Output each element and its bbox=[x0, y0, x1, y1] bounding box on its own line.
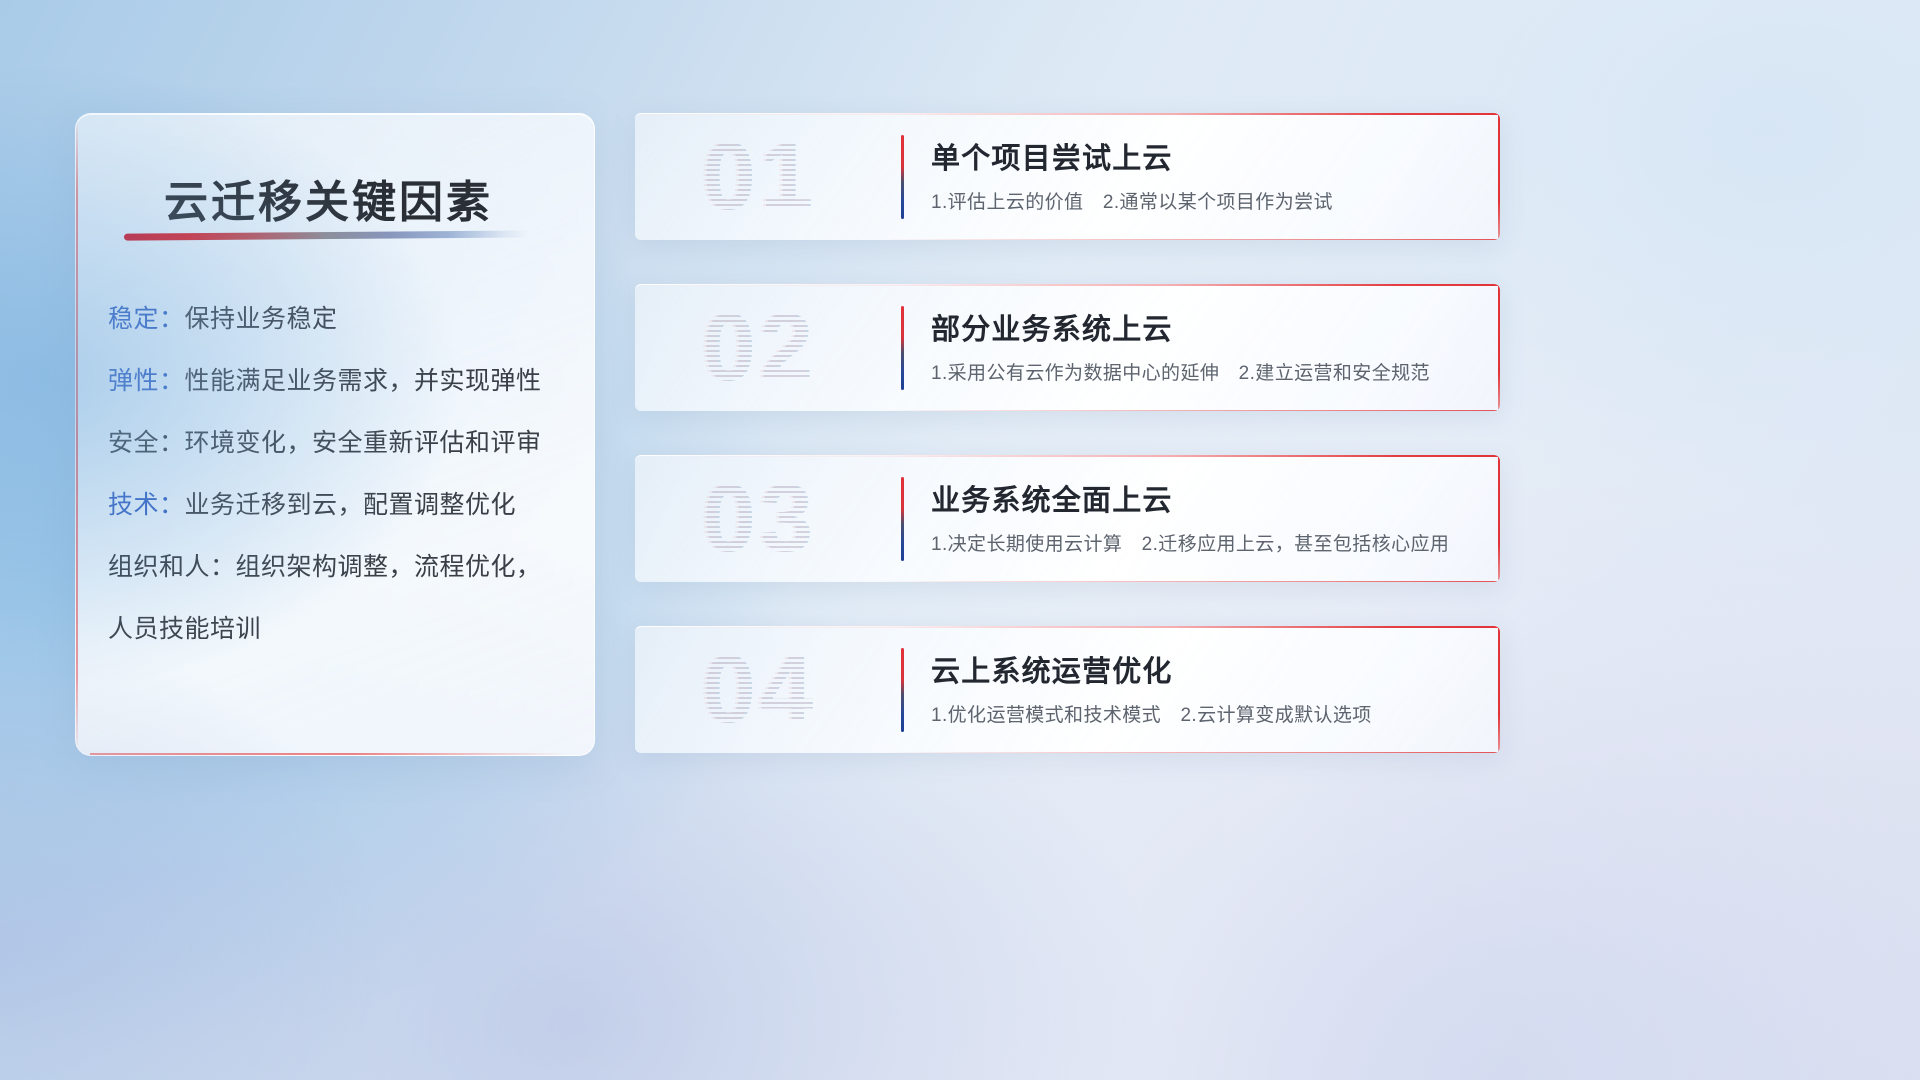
step-title: 部分业务系统上云 bbox=[931, 306, 1173, 348]
panel-title: 云迁移关键因素 bbox=[164, 166, 493, 230]
step-divider-line bbox=[901, 135, 904, 219]
panel-bottom-accent-bar bbox=[90, 753, 568, 755]
list-item-continuation: 人员技能培训 bbox=[108, 617, 572, 642]
step-divider-line bbox=[901, 648, 904, 732]
list-item: 弹性： 性能满足业务需求，并实现弹性 bbox=[108, 369, 572, 394]
migration-steps-list: 01 单个项目尝试上云 1.评估上云的价值 2.通常以某个项目作为尝试 02 部… bbox=[635, 113, 1500, 797]
step-description: 1.采用公有云作为数据中心的延伸 2.建立运营和安全规范 bbox=[931, 358, 1430, 385]
card-right-accent-line bbox=[1498, 455, 1500, 582]
list-item: 安全： 环境变化，安全重新评估和评审 bbox=[108, 431, 572, 456]
fact-value: 人员技能培训 bbox=[108, 617, 261, 642]
step-card-01[interactable]: 01 单个项目尝试上云 1.评估上云的价值 2.通常以某个项目作为尝试 bbox=[635, 113, 1500, 240]
card-right-accent-line bbox=[1498, 113, 1500, 240]
step-description: 1.评估上云的价值 2.通常以某个项目作为尝试 bbox=[931, 187, 1333, 214]
step-text-block: 业务系统全面上云 1.决定长期使用云计算 2.迁移应用上云，甚至包括核心应用 bbox=[931, 455, 1482, 582]
step-text-block: 部分业务系统上云 1.采用公有云作为数据中心的延伸 2.建立运营和安全规范 bbox=[931, 284, 1482, 411]
card-right-accent-line bbox=[1498, 626, 1500, 753]
step-title: 业务系统全面上云 bbox=[931, 477, 1173, 519]
fact-value: 环境变化，安全重新评估和评审 bbox=[185, 431, 542, 456]
panel-left-accent-bar bbox=[76, 116, 78, 753]
fact-label: 组织和人： bbox=[108, 555, 236, 580]
list-item: 技术： 业务迁移到云，配置调整优化 bbox=[108, 493, 572, 518]
step-number-ghost: 01 bbox=[655, 119, 865, 235]
fact-label: 稳定： bbox=[108, 307, 185, 332]
step-divider-line bbox=[901, 306, 904, 390]
step-text-block: 云上系统运营优化 1.优化运营模式和技术模式 2.云计算变成默认选项 bbox=[931, 626, 1482, 753]
step-description: 1.决定长期使用云计算 2.迁移应用上云，甚至包括核心应用 bbox=[931, 529, 1449, 556]
fact-value: 保持业务稳定 bbox=[185, 307, 338, 332]
key-factors-panel: 云迁移关键因素 稳定： 保持业务稳定 弹性： 性能满足业务需求，并实现弹性 安全… bbox=[75, 113, 595, 756]
step-card-04[interactable]: 04 云上系统运营优化 1.优化运营模式和技术模式 2.云计算变成默认选项 bbox=[635, 626, 1500, 753]
fact-label: 安全： bbox=[108, 431, 185, 456]
list-item: 稳定： 保持业务稳定 bbox=[108, 307, 572, 332]
fact-value: 业务迁移到云，配置调整优化 bbox=[185, 493, 517, 518]
fact-label: 技术： bbox=[108, 493, 185, 518]
step-divider-line bbox=[901, 477, 904, 561]
step-title: 单个项目尝试上云 bbox=[931, 135, 1173, 177]
fact-value: 性能满足业务需求，并实现弹性 bbox=[185, 369, 542, 394]
slide-canvas: 云迁移关键因素 稳定： 保持业务稳定 弹性： 性能满足业务需求，并实现弹性 安全… bbox=[0, 0, 1920, 1080]
card-right-accent-line bbox=[1498, 284, 1500, 411]
step-description: 1.优化运营模式和技术模式 2.云计算变成默认选项 bbox=[931, 700, 1372, 727]
step-card-03[interactable]: 03 业务系统全面上云 1.决定长期使用云计算 2.迁移应用上云，甚至包括核心应… bbox=[635, 455, 1500, 582]
list-item: 组织和人： 组织架构调整，流程优化， bbox=[108, 555, 572, 580]
fact-label: 弹性： bbox=[108, 369, 185, 394]
step-number-ghost: 04 bbox=[655, 632, 865, 748]
key-factors-list: 稳定： 保持业务稳定 弹性： 性能满足业务需求，并实现弹性 安全： 环境变化，安… bbox=[108, 307, 572, 679]
step-card-02[interactable]: 02 部分业务系统上云 1.采用公有云作为数据中心的延伸 2.建立运营和安全规范 bbox=[635, 284, 1500, 411]
step-title: 云上系统运营优化 bbox=[931, 648, 1173, 690]
fact-value: 组织架构调整，流程优化， bbox=[236, 555, 542, 580]
step-number-ghost: 02 bbox=[655, 290, 865, 406]
title-gradient-underline bbox=[124, 230, 529, 240]
step-text-block: 单个项目尝试上云 1.评估上云的价值 2.通常以某个项目作为尝试 bbox=[931, 113, 1482, 240]
step-number-ghost: 03 bbox=[655, 461, 865, 577]
